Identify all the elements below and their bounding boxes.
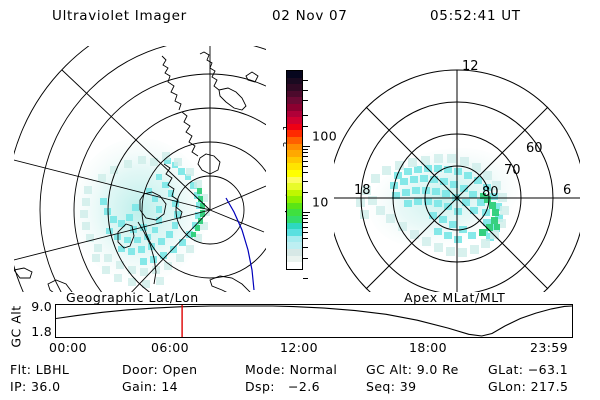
time-tick-2: 12:00 (280, 340, 318, 355)
status-mode-label: Mode: (245, 362, 285, 377)
colorbar-band (287, 242, 302, 249)
status-glon-value: 217.5 (531, 379, 569, 394)
colorbar-band (287, 124, 302, 131)
colorbar-band (287, 157, 302, 164)
orbit-y-tick-max: 9.0 (31, 299, 52, 314)
colorbar-minor-tick (303, 222, 308, 223)
colorbar-band (287, 130, 302, 137)
status-ip-label: IP: (10, 379, 27, 394)
colorbar-minor-tick (303, 172, 308, 173)
colorbar-band (287, 256, 302, 263)
status-glat-label: GLat: (488, 362, 523, 377)
orbit-y-tick-min: 1.8 (31, 324, 52, 339)
colorbar-minor-tick (303, 278, 308, 279)
colorbar-minor-tick (303, 238, 308, 239)
colorbar-band (287, 262, 302, 269)
status-dsp-value: −2.6 (288, 379, 320, 394)
status-door: Door: Open (122, 362, 197, 377)
colorbar-band (287, 91, 302, 98)
colorbar-band (287, 223, 302, 230)
status-glat-value: −63.1 (528, 362, 568, 377)
status-seq-value: 39 (400, 379, 417, 394)
status-gc-alt-value: 9.0 Re (417, 362, 459, 377)
status-gain-value: 14 (161, 379, 178, 394)
mlat-label-70: 70 (504, 163, 521, 178)
status-flt: Flt: LBHL (10, 362, 69, 377)
colorbar-band (287, 163, 302, 170)
status-ip: IP: 36.0 (10, 379, 60, 394)
colorbar-minor-tick (303, 80, 308, 81)
colorbar-minor-tick (303, 258, 308, 259)
colorbar-band (287, 236, 302, 243)
mlat-label-60: 60 (526, 141, 543, 156)
colorbar-band (287, 97, 302, 104)
colorbar-band (287, 196, 302, 203)
header-bar: Ultraviolet Imager 02 Nov 07 05:52:41 UT (0, 8, 600, 32)
colorbar-band (287, 84, 302, 91)
status-mode-value: Normal (290, 362, 338, 377)
colorbar-minor-tick (303, 115, 308, 116)
colorbar-minor-tick (303, 126, 308, 127)
colorbar-minor-tick (303, 247, 308, 248)
colorbar-band (287, 229, 302, 236)
colorbar: photon cm-2s-1 10100 (262, 60, 332, 286)
colorbar-band (287, 111, 302, 118)
mlt-label-12: 12 (462, 59, 479, 74)
colorbar-band (287, 216, 302, 223)
colorbar-band (287, 137, 302, 144)
colorbar-band (287, 203, 302, 210)
instrument-title: Ultraviolet Imager (52, 8, 187, 24)
colorbar-major-tick (303, 146, 310, 147)
colorbar-band (287, 104, 302, 111)
status-glon-label: GLon: (488, 379, 526, 394)
colorbar-minor-tick (303, 215, 308, 216)
colorbar-band (287, 190, 302, 197)
colorbar-major-tick (303, 212, 310, 213)
mlt-label-6: 6 (563, 183, 571, 198)
magnetic-polar-plot[interactable]: 12 0 18 6 60 70 80 (334, 46, 580, 292)
colorbar-minor-tick (303, 161, 308, 162)
colorbar-band (287, 78, 302, 85)
time-tick-3: 18:00 (409, 340, 447, 355)
status-flt-value: LBHL (36, 362, 70, 377)
colorbar-gradient-strip (286, 70, 303, 270)
colorbar-minor-tick (303, 100, 308, 101)
observation-time: 05:52:41 UT (430, 8, 521, 24)
colorbar-minor-tick (303, 192, 308, 193)
colorbar-minor-tick (303, 181, 308, 182)
status-gc-alt-label: GC Alt: (366, 362, 412, 377)
colorbar-band (287, 144, 302, 151)
colorbar-tick-label-10: 10 (312, 195, 329, 210)
status-panel: Flt: LBHL Door: Open Mode: Normal GC Alt… (0, 362, 600, 400)
colorbar-minor-tick (303, 149, 308, 150)
mlt-label-18: 18 (354, 183, 371, 198)
colorbar-tick-marks (303, 70, 310, 270)
colorbar-minor-tick (303, 152, 308, 153)
colorbar-band (287, 209, 302, 216)
terminator-line (226, 198, 254, 290)
colorbar-minor-tick (303, 218, 308, 219)
colorbar-band (287, 177, 302, 184)
time-tick-1: 06:00 (151, 340, 189, 355)
observation-date: 02 Nov 07 (272, 8, 348, 24)
status-glat: GLat: −63.1 (488, 362, 568, 377)
status-glon: GLon: 217.5 (488, 379, 568, 394)
colorbar-band (287, 170, 302, 177)
aurora-emission-geographic (72, 138, 210, 288)
colorbar-band (287, 117, 302, 124)
status-dsp-label: Dsp: (245, 379, 275, 394)
time-tick-0: 00:00 (49, 340, 87, 355)
magnetic-plot-canvas: 12 0 18 6 60 70 80 (334, 46, 580, 292)
colorbar-minor-tick (303, 90, 308, 91)
status-dsp: Dsp: −2.6 (245, 379, 320, 394)
colorbar-band (287, 150, 302, 157)
orbit-altitude-curve-canvas (56, 305, 572, 337)
orbit-y-tick-labels: 9.0 1.8 (14, 300, 52, 340)
geographic-polar-plot[interactable] (14, 46, 266, 292)
status-ip-value: 36.0 (31, 379, 60, 394)
colorbar-band (287, 71, 302, 78)
status-gc-alt: GC Alt: 9.0 Re (366, 362, 459, 377)
time-tick-4: 23:59 (530, 340, 568, 355)
mlat-label-80: 80 (482, 185, 499, 200)
colorbar-minor-tick (303, 156, 308, 157)
status-door-label: Door: (122, 362, 158, 377)
colorbar-minor-tick (303, 227, 308, 228)
colorbar-minor-tick (303, 232, 308, 233)
status-seq: Seq: 39 (366, 379, 416, 394)
status-mode: Mode: Normal (245, 362, 337, 377)
status-gain: Gain: 14 (122, 379, 178, 394)
orbit-plot-area[interactable] (55, 304, 573, 338)
orbit-altitude-strip[interactable]: GC Alt 9.0 1.8 00:00 06:00 12:00 18:00 2… (0, 300, 600, 346)
status-door-value: Open (162, 362, 197, 377)
colorbar-band (287, 249, 302, 256)
orbit-time-axis: 00:00 06:00 12:00 18:00 23:59 (0, 340, 600, 358)
geographic-plot-canvas (14, 46, 266, 292)
status-flt-label: Flt: (10, 362, 31, 377)
colorbar-minor-tick (303, 166, 308, 167)
status-seq-label: Seq: (366, 379, 395, 394)
ultraviolet-imager-window: Ultraviolet Imager 02 Nov 07 05:52:41 UT (0, 0, 600, 400)
colorbar-band (287, 183, 302, 190)
orbit-altitude-curve (56, 306, 572, 336)
status-gain-label: Gain: (122, 379, 157, 394)
